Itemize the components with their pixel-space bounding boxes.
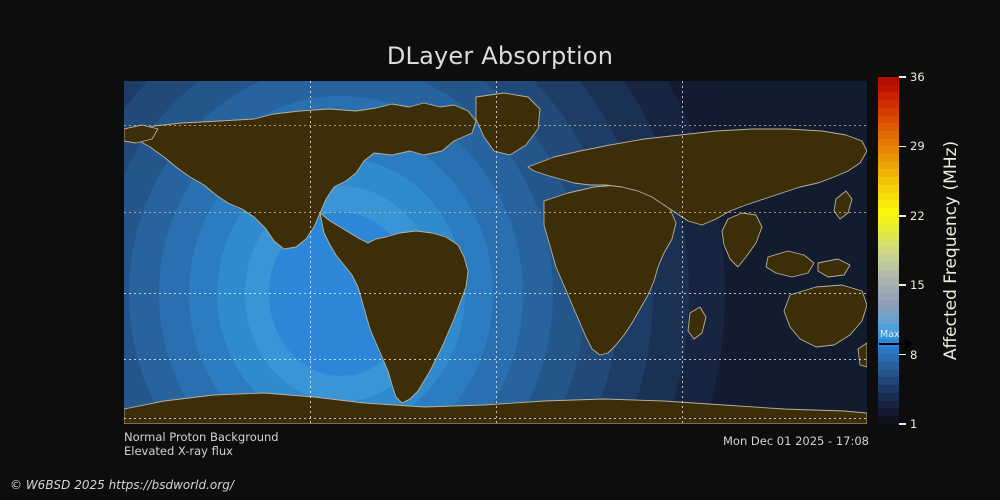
colorbar-band <box>878 270 899 278</box>
gridline-lat-30s <box>124 359 867 360</box>
colorbar-band <box>878 208 899 216</box>
colorbar-tick-label: 1 <box>910 417 917 431</box>
colorbar-band <box>878 223 899 231</box>
colorbar-band <box>878 246 899 254</box>
colorbar-band <box>878 416 899 424</box>
timestamp: Mon Dec 01 2025 - 17:08 <box>723 434 869 448</box>
gridline-lon-90w <box>310 81 311 424</box>
colorbar-band <box>878 85 899 93</box>
colorbar-band <box>878 293 899 301</box>
status-proton-background: Normal Proton Background <box>124 430 279 444</box>
colorbar-tick: 22 <box>899 209 925 223</box>
colorbar-band <box>878 377 899 385</box>
colorbar-band <box>878 185 899 193</box>
colorbar-tick: 36 <box>899 70 925 84</box>
colorbar-band <box>878 200 899 208</box>
colorbar-band <box>878 216 899 224</box>
colorbar-band <box>878 370 899 378</box>
colorbar-band <box>878 354 899 362</box>
colorbar-band <box>878 385 899 393</box>
colorbar-band <box>878 308 899 316</box>
colorbar-tick-mark <box>899 76 906 78</box>
colorbar-band <box>878 362 899 370</box>
colorbar-band <box>878 100 899 108</box>
copyright-notice: © W6BSD 2025 https://bsdworld.org/ <box>10 478 234 492</box>
colorbar-band <box>878 177 899 185</box>
colorbar-band <box>878 231 899 239</box>
world-map[interactable] <box>124 81 867 424</box>
colorbar-tick-mark <box>899 146 906 148</box>
colorbar-band <box>878 193 899 201</box>
colorbar-band <box>878 123 899 131</box>
colorbar-band <box>878 277 899 285</box>
colorbar-band <box>878 131 899 139</box>
colorbar-band <box>878 393 899 401</box>
colorbar-band <box>878 139 899 147</box>
gridline-lon-90e <box>682 81 683 424</box>
gridline-lat-0 <box>124 293 867 294</box>
colorbar-tick-label: 36 <box>910 70 925 84</box>
colorbar-band <box>878 146 899 154</box>
max-marker-arrow-shaft <box>879 343 907 345</box>
colorbar-tick-mark <box>899 423 906 425</box>
colorbar-band <box>878 108 899 116</box>
gridline-lat-60n <box>124 125 867 126</box>
colorbar-tick-mark <box>899 354 906 356</box>
max-marker-arrow-head <box>905 339 913 349</box>
max-absorption-marker: Max <box>879 330 919 354</box>
colorbar-band <box>878 77 899 85</box>
colorbar-band <box>878 316 899 324</box>
colorbar[interactable] <box>878 77 899 424</box>
colorbar-band <box>878 262 899 270</box>
colorbar-band <box>878 169 899 177</box>
colorbar-tick: 1 <box>899 417 917 431</box>
colorbar-band <box>878 162 899 170</box>
colorbar-band <box>878 300 899 308</box>
colorbar-tick-mark <box>899 215 906 217</box>
colorbar-band <box>878 408 899 416</box>
colorbar-band <box>878 154 899 162</box>
colorbar-tick-mark <box>899 284 906 286</box>
gridline-lat-30n <box>124 212 867 213</box>
colorbar-tick-label: 22 <box>910 209 925 223</box>
colorbar-band <box>878 254 899 262</box>
colorbar-tick-label: 15 <box>910 278 925 292</box>
dlayer-absorption-app: DLayer Absorption <box>0 0 1000 500</box>
colorbar-axis-label-wrap: Affected Frequency (MHz) <box>941 77 963 424</box>
colorbar-tick-label: 29 <box>910 139 925 153</box>
gridline-lat-60s <box>124 418 867 419</box>
page-title: DLayer Absorption <box>0 42 1000 70</box>
max-marker-label: Max <box>880 329 900 340</box>
colorbar-band <box>878 116 899 124</box>
colorbar-tick: 29 <box>899 139 925 153</box>
colorbar-band <box>878 239 899 247</box>
colorbar-tick: 15 <box>899 278 925 292</box>
gridline-lon-0 <box>496 81 497 424</box>
status-xray-flux: Elevated X-ray flux <box>124 444 233 458</box>
colorbar-band <box>878 92 899 100</box>
colorbar-band <box>878 285 899 293</box>
colorbar-axis-label: Affected Frequency (MHz) <box>941 77 963 424</box>
colorbar-band <box>878 401 899 409</box>
